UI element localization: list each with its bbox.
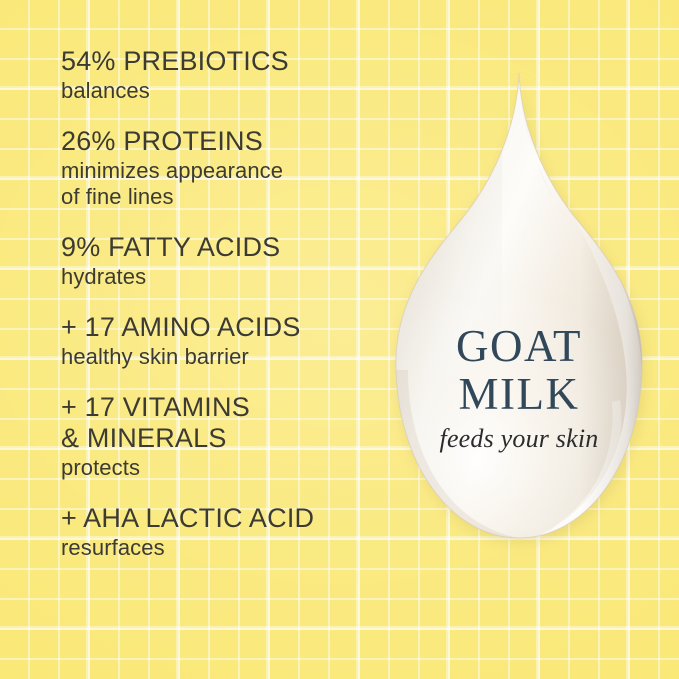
- ingredient-item-proteins: 26% PROTEINS minimizes appearance of fin…: [61, 126, 381, 210]
- ingredient-item-amino-acids: + 17 AMINO ACIDS healthy skin barrier: [61, 312, 381, 370]
- milk-droplet-icon: [392, 70, 646, 542]
- ingredient-item-aha-lactic-acid: + AHA LACTIC ACID resurfaces: [61, 503, 381, 561]
- ingredient-item-vitamins-minerals: + 17 VITAMINS & MINERALS protects: [61, 392, 381, 481]
- ingredient-item-prebiotics: 54% PREBIOTICS balances: [61, 46, 381, 104]
- ingredient-title: 26% PROTEINS: [61, 126, 381, 157]
- ingredient-benefit: minimizes appearance of fine lines: [61, 158, 381, 210]
- ingredient-title: + 17 AMINO ACIDS: [61, 312, 381, 343]
- ingredient-list: 54% PREBIOTICS balances 26% PROTEINS min…: [61, 46, 381, 561]
- ingredient-benefit: hydrates: [61, 264, 381, 290]
- ingredient-title: 54% PREBIOTICS: [61, 46, 381, 77]
- goat-milk-ingredient-poster: 54% PREBIOTICS balances 26% PROTEINS min…: [0, 0, 679, 679]
- ingredient-benefit: resurfaces: [61, 535, 381, 561]
- ingredient-title: + AHA LACTIC ACID: [61, 503, 381, 534]
- ingredient-title: + 17 VITAMINS & MINERALS: [61, 392, 381, 454]
- ingredient-benefit: healthy skin barrier: [61, 344, 381, 370]
- milk-droplet-graphic: GOAT MILK feeds your skin: [392, 70, 646, 542]
- ingredient-item-fatty-acids: 9% FATTY ACIDS hydrates: [61, 232, 381, 290]
- ingredient-benefit: balances: [61, 78, 381, 104]
- ingredient-title: 9% FATTY ACIDS: [61, 232, 381, 263]
- ingredient-benefit: protects: [61, 455, 381, 481]
